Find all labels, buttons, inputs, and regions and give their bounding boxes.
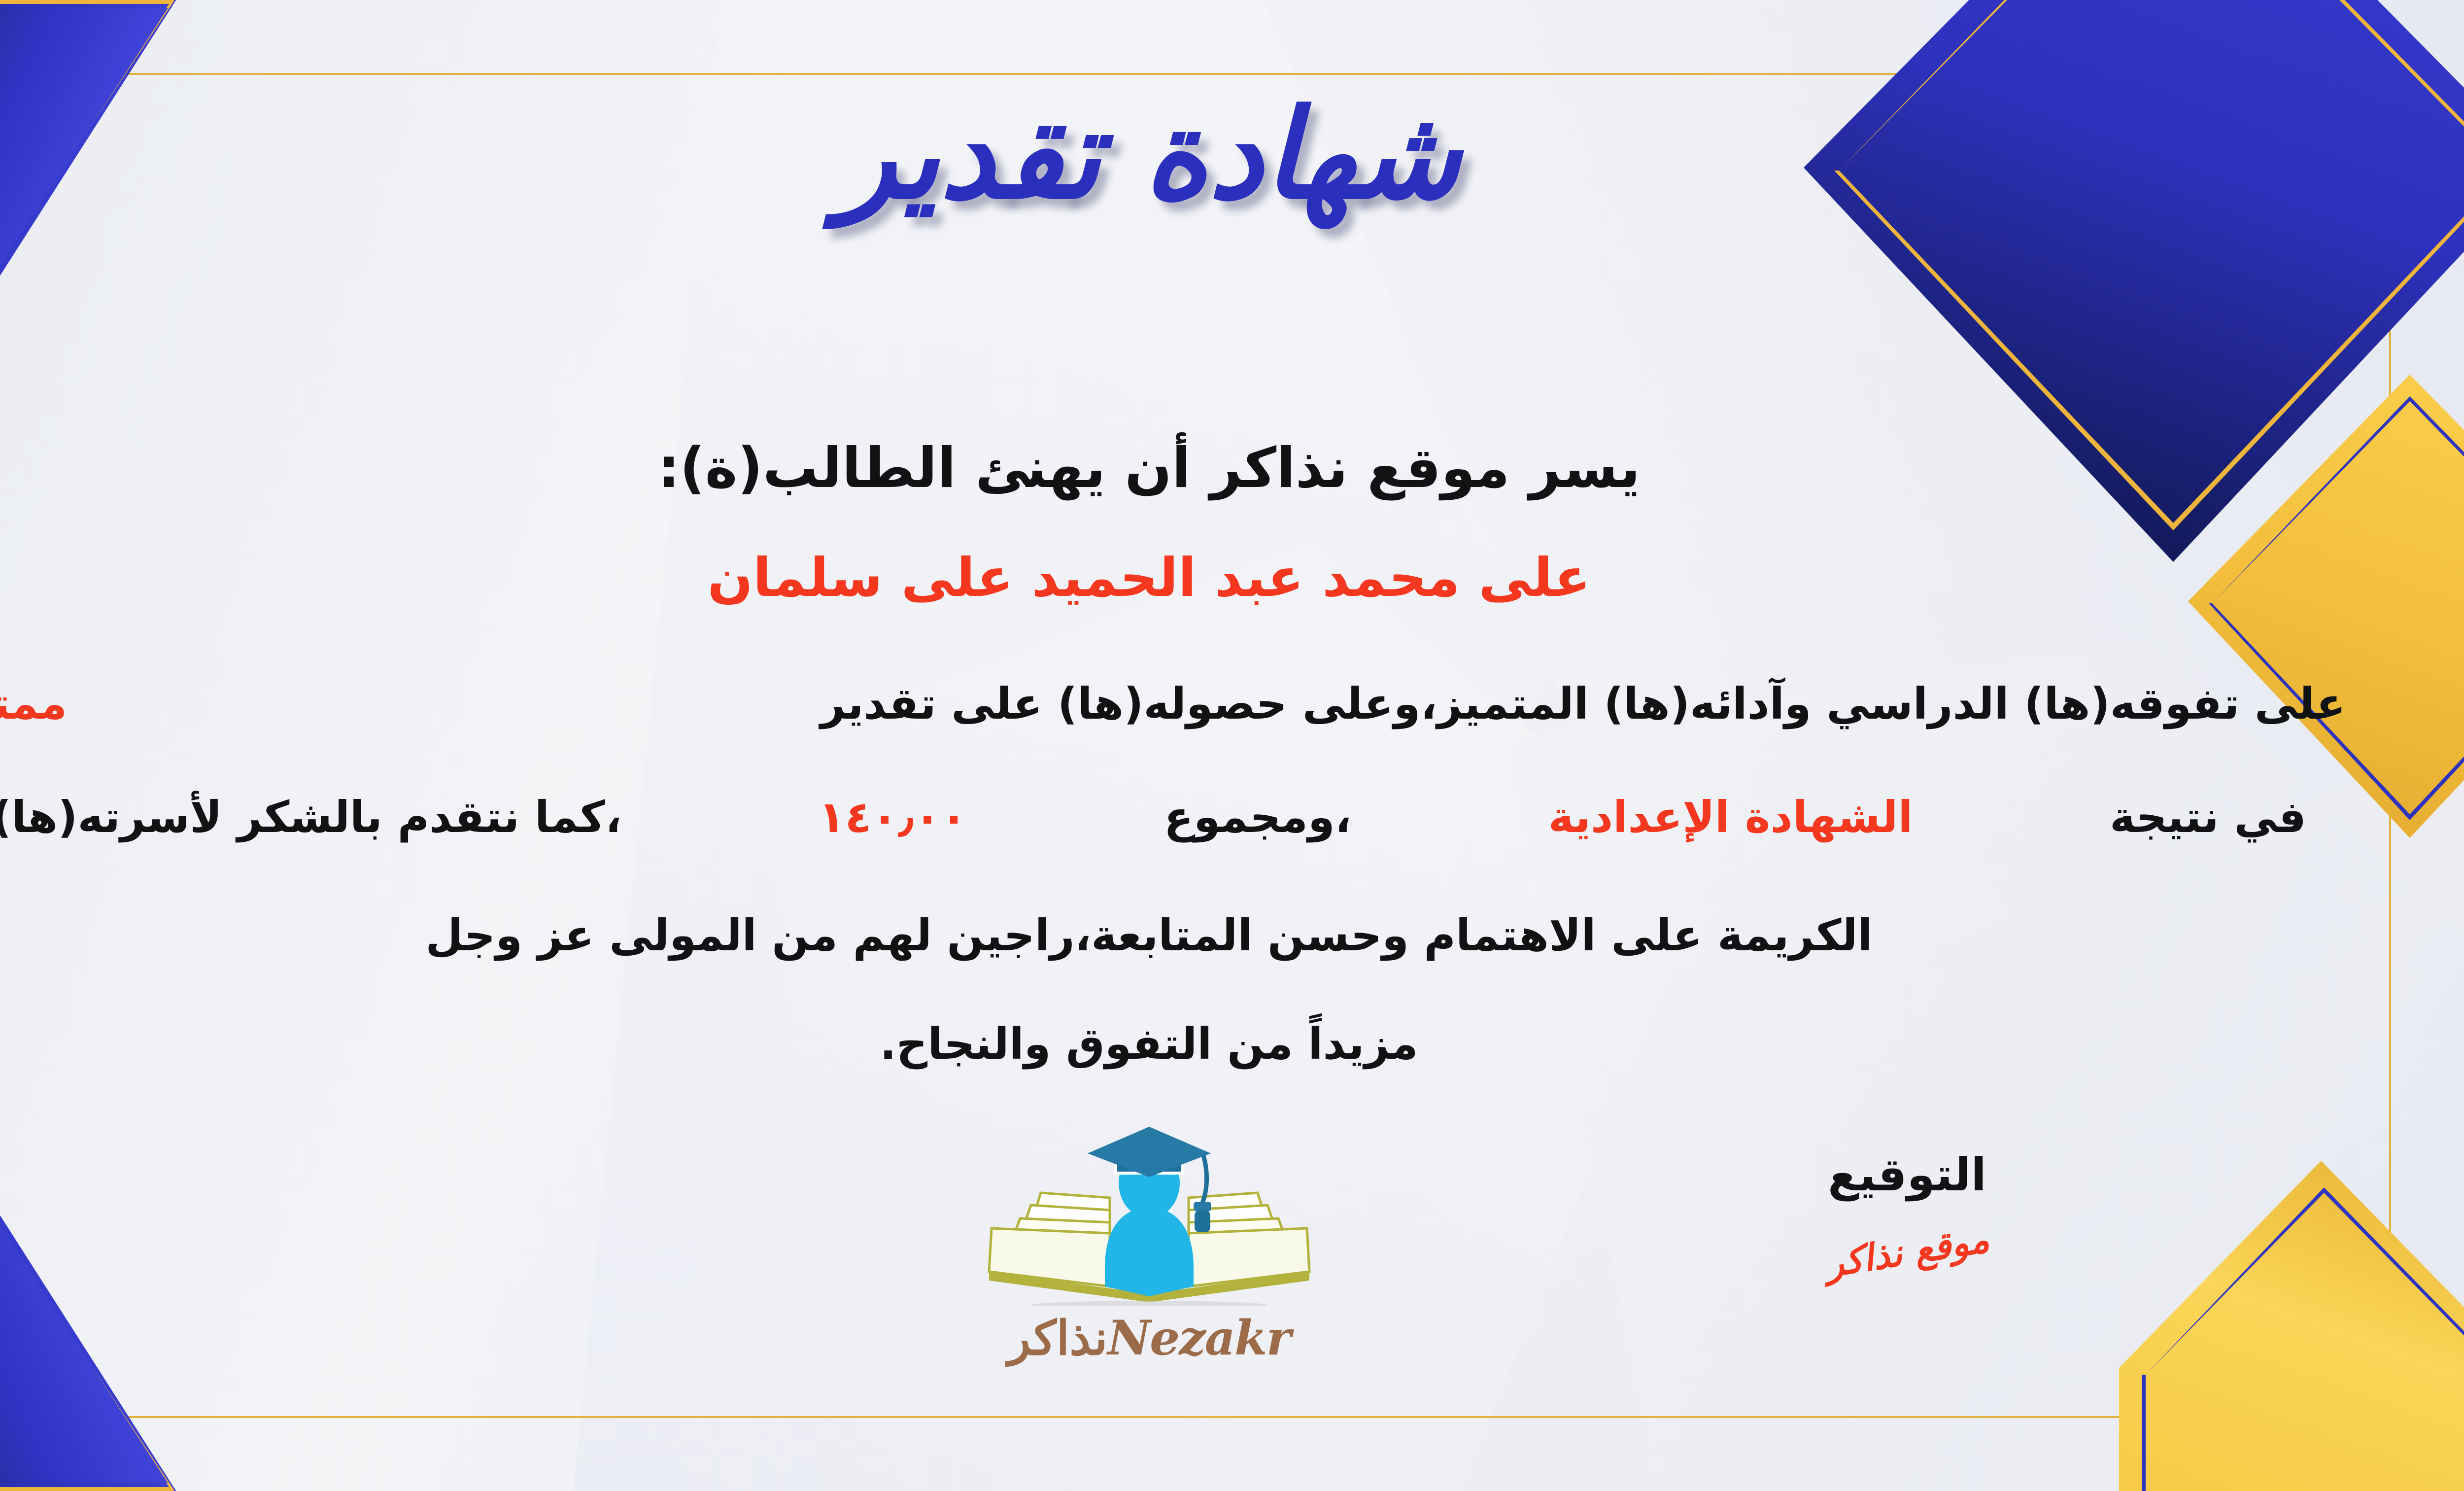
- site-logo: Nezakrنذاكر: [962, 1124, 1336, 1366]
- greeting-text: يسر موقع نذاكر أن يهنئ الطالب(ة):: [0, 434, 2365, 503]
- certificate-canvas: شهادة تقدير يسر موقع نذاكر أن يهنئ الطال…: [0, 0, 2464, 1491]
- result-prefix-text: في نتيجة: [2110, 789, 2306, 846]
- body-line-3: الكريمة على الاهتمام وحسن المتابعة،راجين…: [0, 907, 2365, 964]
- total-label-text: ،ومجموع: [1164, 789, 1351, 846]
- student-name: على محمد عبد الحميد على سلمان: [0, 547, 2365, 609]
- body-line-1-text: على تفوقه(ها) الدراسي وآدائه(ها) المتميز…: [821, 675, 2346, 732]
- logo-arabic-text: نذاكر: [1008, 1310, 1107, 1366]
- certificate-name-highlight: الشهادة الإعدادية: [1548, 789, 1913, 846]
- signature-mark: موقع نذاكر: [1822, 1218, 1992, 1285]
- grade-highlight: ممتاز: [0, 675, 67, 732]
- total-score-highlight: ١٤٠٫٠٠: [819, 789, 967, 846]
- logo-latin-text: Nezakr: [1107, 1310, 1290, 1366]
- body-line-4: مزيداً من التفوق والنجاح.: [0, 1015, 2365, 1073]
- certificate-content: شهادة تقدير يسر موقع نذاكر أن يهنئ الطال…: [0, 0, 2365, 1491]
- body-line-2: في نتيجة الشهادة الإعدادية ،ومجموع ١٤٠٫٠…: [0, 789, 2365, 846]
- signature-label: التوقيع: [1774, 1148, 2040, 1201]
- body-line-1: على تفوقه(ها) الدراسي وآدائه(ها) المتميز…: [0, 675, 2365, 732]
- certificate-title: شهادة تقدير: [0, 84, 2365, 226]
- thanks-prefix-text: ،كما نتقدم بالشكر لأسرته(ها): [0, 789, 622, 846]
- logo-wordmark: Nezakrنذاكر: [962, 1310, 1336, 1366]
- graduate-book-logo-icon: [962, 1124, 1336, 1306]
- signature-block: التوقيع موقع نذاكر: [1774, 1148, 2040, 1273]
